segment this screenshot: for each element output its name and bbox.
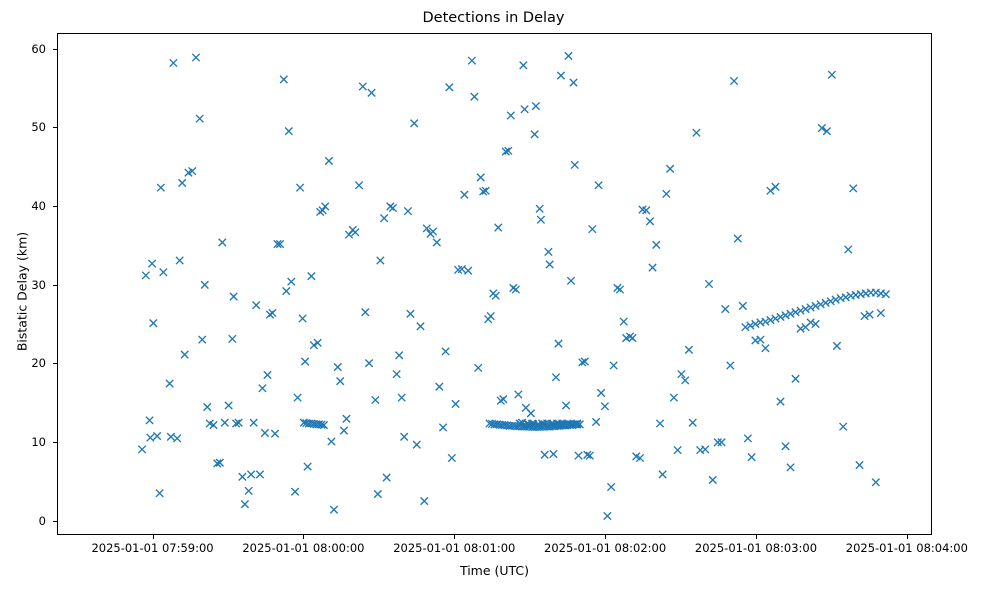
scatter-point bbox=[291, 488, 298, 495]
scatter-point bbox=[507, 112, 514, 119]
x-tick-label: 2025-01-01 08:00:00 bbox=[218, 541, 388, 555]
scatter-point bbox=[610, 362, 617, 369]
scatter-point bbox=[337, 377, 344, 384]
scatter-point bbox=[589, 225, 596, 232]
y-tick-label: 50 bbox=[2, 120, 46, 134]
scatter-point bbox=[500, 396, 507, 403]
scatter-point bbox=[531, 131, 538, 138]
scatter-point bbox=[685, 346, 692, 353]
x-tick-mark bbox=[907, 535, 908, 539]
scatter-point bbox=[767, 187, 774, 194]
scatter-point bbox=[461, 191, 468, 198]
scatter-point bbox=[395, 352, 402, 359]
scatter-point bbox=[173, 435, 180, 442]
scatter-point bbox=[352, 229, 359, 236]
scatter-point bbox=[468, 57, 475, 64]
scatter-point bbox=[567, 277, 574, 284]
scatter-point bbox=[562, 402, 569, 409]
scatter-point bbox=[283, 287, 290, 294]
scatter-point bbox=[545, 248, 552, 255]
scatter-point bbox=[288, 278, 295, 285]
scatter-point bbox=[670, 394, 677, 401]
scatter-point bbox=[446, 84, 453, 91]
scatter-point bbox=[148, 260, 155, 267]
scatter-point bbox=[314, 339, 321, 346]
scatter-point bbox=[359, 83, 366, 90]
scatter-point bbox=[296, 184, 303, 191]
scatter-point bbox=[264, 371, 271, 378]
scatter-point bbox=[689, 419, 696, 426]
scatter-point bbox=[413, 441, 420, 448]
scatter-point bbox=[362, 309, 369, 316]
scatter-point bbox=[792, 375, 799, 382]
scatter-point bbox=[595, 182, 602, 189]
y-axis-label: Bistatic Delay (km) bbox=[15, 162, 30, 422]
scatter-point bbox=[521, 106, 528, 113]
scatter-point bbox=[471, 93, 478, 100]
scatter-point bbox=[138, 446, 145, 453]
scatter-point bbox=[280, 76, 287, 83]
scatter-point bbox=[681, 377, 688, 384]
scatter-point bbox=[393, 370, 400, 377]
scatter-point bbox=[629, 334, 636, 341]
x-tick-mark bbox=[153, 535, 154, 539]
scatter-point bbox=[705, 280, 712, 287]
scatter-point bbox=[271, 430, 278, 437]
x-tick-label: 2025-01-01 08:01:00 bbox=[369, 541, 539, 555]
scatter-point bbox=[592, 418, 599, 425]
scatter-point bbox=[536, 205, 543, 212]
scatter-point bbox=[294, 394, 301, 401]
scatter-point bbox=[252, 301, 259, 308]
scatter-point bbox=[368, 89, 375, 96]
scatter-point bbox=[845, 246, 852, 253]
scatter-point bbox=[365, 359, 372, 366]
scatter-point bbox=[328, 438, 335, 445]
scatter-point bbox=[782, 443, 789, 450]
scatter-point bbox=[722, 305, 729, 312]
scatter-point bbox=[748, 454, 755, 461]
scatter-point bbox=[552, 374, 559, 381]
scatter-point bbox=[321, 203, 328, 210]
scatter-point bbox=[448, 454, 455, 461]
scatter-point bbox=[400, 433, 407, 440]
scatter-point bbox=[225, 402, 232, 409]
scatter-point bbox=[383, 474, 390, 481]
scatter-point bbox=[546, 261, 553, 268]
scatter-point bbox=[520, 62, 527, 69]
scatter-point bbox=[762, 345, 769, 352]
scatter-point bbox=[464, 267, 471, 274]
scatter-point bbox=[199, 336, 206, 343]
scatter-point bbox=[739, 302, 746, 309]
scatter-point bbox=[229, 335, 236, 342]
y-tick-label: 60 bbox=[2, 42, 46, 56]
scatter-point bbox=[176, 257, 183, 264]
scatter-point bbox=[557, 72, 564, 79]
scatter-point bbox=[377, 257, 384, 264]
scatter-point bbox=[330, 506, 337, 513]
chart-figure: Detections in Delay 01020304050602025-01… bbox=[0, 0, 987, 590]
scatter-point bbox=[646, 218, 653, 225]
scatter-point bbox=[649, 264, 656, 271]
scatter-point bbox=[512, 286, 519, 293]
scatter-point bbox=[261, 429, 268, 436]
scatter-point bbox=[477, 174, 484, 181]
scatter-point bbox=[452, 400, 459, 407]
scatter-point bbox=[616, 286, 623, 293]
scatter-point bbox=[744, 435, 751, 442]
scatter-point bbox=[355, 182, 362, 189]
scatter-point bbox=[555, 340, 562, 347]
x-tick-mark bbox=[605, 535, 606, 539]
scatter-point bbox=[575, 452, 582, 459]
y-tick-label: 10 bbox=[2, 435, 46, 449]
scatter-point bbox=[527, 410, 534, 417]
scatter-point bbox=[157, 184, 164, 191]
scatter-point bbox=[653, 241, 660, 248]
scatter-point bbox=[421, 497, 428, 504]
scatter-point bbox=[204, 403, 211, 410]
scatter-point bbox=[239, 473, 246, 480]
scatter-point bbox=[541, 451, 548, 458]
scatter-point bbox=[730, 77, 737, 84]
scatter-point bbox=[515, 391, 522, 398]
scatter-point bbox=[411, 120, 418, 127]
scatter-point bbox=[433, 239, 440, 246]
scatter-point bbox=[170, 59, 177, 66]
scatter-point bbox=[166, 380, 173, 387]
scatter-point bbox=[147, 434, 154, 441]
x-axis-label: Time (UTC) bbox=[57, 563, 932, 578]
scatter-point bbox=[308, 272, 315, 279]
scatter-point bbox=[757, 336, 764, 343]
scatter-point bbox=[325, 157, 332, 164]
scatter-point bbox=[714, 439, 721, 446]
x-tick-label: 2025-01-01 07:59:00 bbox=[68, 541, 238, 555]
scatter-point bbox=[734, 235, 741, 242]
scatter-point bbox=[678, 370, 685, 377]
scatter-point bbox=[241, 501, 248, 508]
scatter-point bbox=[718, 439, 725, 446]
scatter-points bbox=[138, 52, 889, 519]
scatter-point bbox=[304, 463, 311, 470]
scatter-point bbox=[495, 224, 502, 231]
scatter-point bbox=[492, 292, 499, 299]
scatter-point bbox=[219, 239, 226, 246]
scatter-point bbox=[299, 315, 306, 322]
scatter-point bbox=[334, 363, 341, 370]
y-tick-label: 0 bbox=[2, 514, 46, 528]
scatter-point bbox=[153, 432, 160, 439]
scatter-point bbox=[256, 471, 263, 478]
scatter-point bbox=[343, 415, 350, 422]
scatter-point bbox=[565, 52, 572, 59]
scatter-point bbox=[269, 309, 276, 316]
scatter-point bbox=[439, 424, 446, 431]
scatter-point bbox=[250, 419, 257, 426]
scatter-point bbox=[178, 179, 185, 186]
scatter-point bbox=[436, 383, 443, 390]
scatter-point bbox=[840, 423, 847, 430]
scatter-point bbox=[167, 433, 174, 440]
scatter-point bbox=[407, 310, 414, 317]
scatter-point bbox=[872, 479, 879, 486]
scatter-point bbox=[777, 398, 784, 405]
scatter-point bbox=[245, 487, 252, 494]
scatter-point bbox=[571, 161, 578, 168]
scatter-point bbox=[319, 207, 326, 214]
scatter-point bbox=[150, 319, 157, 326]
scatter-point bbox=[833, 342, 840, 349]
scatter-point bbox=[772, 183, 779, 190]
scatter-point bbox=[247, 471, 254, 478]
scatter-point bbox=[620, 318, 627, 325]
scatter-point bbox=[882, 291, 889, 298]
scatter-point bbox=[380, 214, 387, 221]
scatter-point bbox=[674, 446, 681, 453]
x-tick-label: 2025-01-01 08:04:00 bbox=[822, 541, 987, 555]
scatter-point bbox=[259, 385, 266, 392]
scatter-point bbox=[702, 446, 709, 453]
scatter-point bbox=[417, 323, 424, 330]
scatter-point bbox=[146, 417, 153, 424]
scatter-point bbox=[663, 190, 670, 197]
scatter-point bbox=[856, 461, 863, 468]
scatter-point bbox=[398, 394, 405, 401]
scatter-point bbox=[532, 102, 539, 109]
scatter-point bbox=[221, 419, 228, 426]
scatter-point bbox=[196, 115, 203, 122]
scatter-point bbox=[550, 450, 557, 457]
scatter-point bbox=[659, 471, 666, 478]
scatter-point bbox=[709, 476, 716, 483]
x-tick-label: 2025-01-01 08:03:00 bbox=[671, 541, 841, 555]
scatter-point bbox=[607, 483, 614, 490]
x-tick-mark bbox=[303, 535, 304, 539]
scatter-point bbox=[877, 309, 884, 316]
scatter-point bbox=[850, 185, 857, 192]
scatter-point bbox=[475, 364, 482, 371]
scatter-point bbox=[537, 216, 544, 223]
scatter-point bbox=[404, 207, 411, 214]
scatter-point bbox=[787, 464, 794, 471]
x-tick-label: 2025-01-01 08:02:00 bbox=[520, 541, 690, 555]
scatter-point bbox=[656, 420, 663, 427]
plot-area bbox=[57, 33, 932, 535]
scatter-point bbox=[666, 165, 673, 172]
scatter-point bbox=[374, 490, 381, 497]
scatter-layer bbox=[58, 34, 931, 534]
scatter-point bbox=[693, 129, 700, 136]
scatter-point bbox=[201, 281, 208, 288]
scatter-point bbox=[181, 351, 188, 358]
scatter-point bbox=[389, 204, 396, 211]
scatter-point bbox=[230, 293, 237, 300]
scatter-point bbox=[597, 389, 604, 396]
scatter-point bbox=[285, 127, 292, 134]
scatter-point bbox=[570, 79, 577, 86]
scatter-point bbox=[828, 71, 835, 78]
scatter-point bbox=[142, 272, 149, 279]
scatter-point bbox=[301, 358, 308, 365]
scatter-point bbox=[156, 490, 163, 497]
scatter-point bbox=[192, 54, 199, 61]
scatter-point bbox=[601, 403, 608, 410]
x-tick-mark bbox=[454, 535, 455, 539]
scatter-point bbox=[340, 427, 347, 434]
scatter-point bbox=[442, 348, 449, 355]
scatter-point bbox=[604, 512, 611, 519]
scatter-point bbox=[372, 396, 379, 403]
x-tick-mark bbox=[756, 535, 757, 539]
scatter-point bbox=[487, 312, 494, 319]
scatter-point bbox=[727, 362, 734, 369]
scatter-point bbox=[160, 269, 167, 276]
